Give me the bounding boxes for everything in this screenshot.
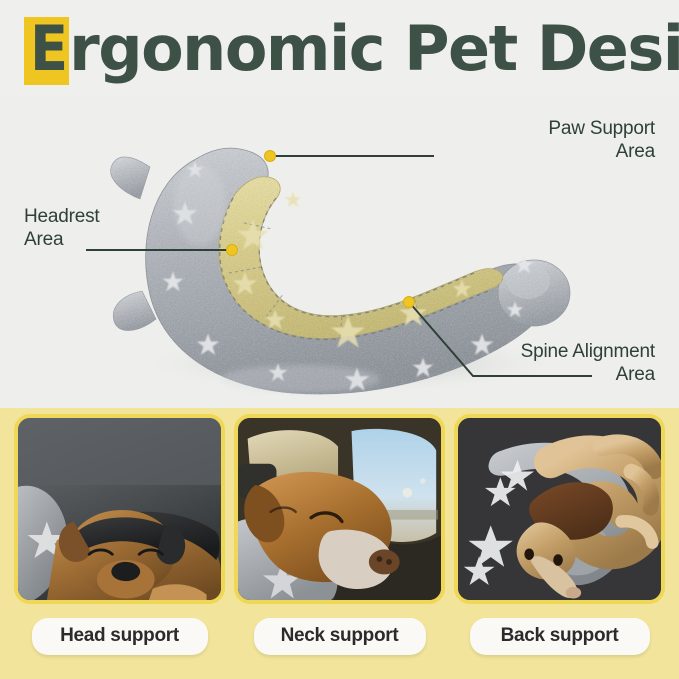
- caption-head-support: Head support: [32, 618, 208, 655]
- callout-dot-paw: [265, 151, 276, 162]
- page-title: E rgonomic Pet Design: [24, 17, 679, 85]
- page-title-initial: E: [24, 17, 69, 85]
- benefit-card-head-support: Head support: [14, 414, 225, 655]
- benefit-card-back-support: Back support: [454, 414, 665, 655]
- photo-back-support: [458, 418, 661, 600]
- photo-head-support: [18, 418, 221, 600]
- callout-headrest-line1: Headrest: [24, 205, 204, 228]
- header-banner: E rgonomic Pet Design: [0, 0, 679, 95]
- photo-frame-head-support: [14, 414, 225, 604]
- page-title-rest: rgonomic Pet Design: [69, 17, 679, 79]
- callout-dot-headrest: [227, 245, 238, 256]
- benefit-card-list: Head support: [0, 414, 679, 655]
- photo-neck-support: [238, 418, 441, 600]
- photo-frame-back-support: [454, 414, 665, 604]
- callout-dot-spine: [404, 297, 415, 308]
- hero-product-section: Paw Support Area Headrest Area Spine Ali…: [0, 95, 679, 408]
- callout-spine-alignment: Spine Alignment Area: [415, 340, 655, 386]
- benefit-card-neck-support: Neck support: [234, 414, 445, 655]
- callout-headrest-line2: Area: [24, 228, 204, 251]
- benefits-panel: Head support: [0, 408, 679, 679]
- callout-spine-alignment-line2: Area: [415, 363, 655, 386]
- callout-spine-alignment-line1: Spine Alignment: [415, 340, 655, 363]
- caption-back-support: Back support: [470, 618, 650, 655]
- callout-headrest: Headrest Area: [24, 205, 204, 251]
- photo-frame-neck-support: [234, 414, 445, 604]
- callout-paw-support: Paw Support Area: [425, 117, 655, 163]
- caption-neck-support: Neck support: [254, 618, 426, 655]
- callout-paw-support-line2: Area: [425, 140, 655, 163]
- callout-paw-support-line1: Paw Support: [425, 117, 655, 140]
